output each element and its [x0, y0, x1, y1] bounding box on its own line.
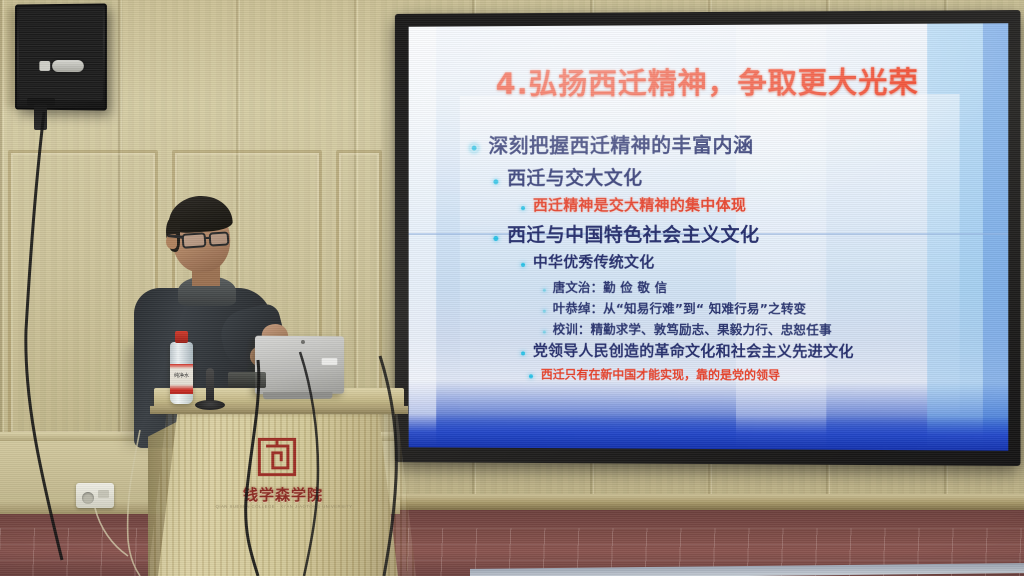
bullet-level3: 中华优秀传统文化 [521, 251, 990, 272]
bullet-level5-highlight: 西迁只有在新中国才能实现，靠的是党的领导 [529, 365, 990, 384]
presenter-laptop[interactable] [255, 336, 344, 395]
speaker-grille-icon [19, 8, 103, 101]
bullet-dot-icon [543, 310, 546, 313]
baseboard-right [396, 494, 1024, 510]
water-bottle: 纯净水 [170, 342, 193, 404]
bullet-dot-icon [493, 179, 498, 184]
bullet-level4: 唐文治：勤 俭 敬 信 [543, 277, 990, 297]
bullet-level2: 西迁与中国特色社会主义文化 [493, 220, 990, 247]
bullet-dot-icon [543, 289, 546, 292]
bottle-label-text: 纯净水 [170, 372, 193, 379]
projection-screen: 4.弘扬西迁精神，争取更大光荣 深刻把握西迁精神的丰富内涵 西迁与交大文化 西迁… [409, 23, 1009, 451]
lectern-org-name: 钱学森学院 [218, 484, 348, 505]
glasses-left-lens-icon [182, 232, 207, 249]
wall-power-outlet[interactable] [76, 483, 114, 508]
desk-equipment [228, 372, 266, 388]
bullet-text: 西迁与交大文化 [507, 163, 642, 190]
laptop-kickstand [263, 392, 332, 399]
bottle-label: 纯净水 [170, 364, 193, 394]
desk-microphone [206, 368, 214, 406]
lectern-wood-grain [148, 388, 416, 576]
bullet-level1: 深刻把握西迁精神的丰富内涵 [470, 128, 990, 158]
bullet-level4: 校训：精勤求学、敦笃励志、果毅力行、忠恕任事 [543, 319, 990, 339]
bullet-text: 叶恭绰：从“知易行难”到“ 知难行易”之转变 [553, 298, 807, 317]
slide-title: 4.弘扬西迁精神，争取更大光荣 [409, 68, 1009, 100]
glasses-right-lens-icon [209, 231, 230, 246]
bullet-dot-icon [521, 351, 525, 355]
bottle-cap [175, 331, 188, 343]
bullet-dot-icon [529, 374, 533, 378]
lectern: 钱学森学院 QIAN XUESEN COLLEGE · XI'AN JIAOTO… [148, 388, 416, 576]
bullet-dot-icon [543, 331, 546, 334]
bullet-dot-icon [521, 206, 525, 210]
bullet-level3-highlight: 西迁精神是交大精神的集中体现 [521, 194, 990, 215]
speaker-logo-icon [39, 61, 50, 71]
lectern-top-edge [150, 406, 408, 414]
bullet-text: 党领导人民创造的革命文化和社会主义先进文化 [533, 340, 854, 362]
wall-speaker [15, 3, 107, 110]
qian-xuesen-college-seal-icon [256, 436, 298, 478]
outlet-socket-flat-icon [98, 490, 109, 498]
slide-bullet-list: 深刻把握西迁精神的丰富内涵 西迁与交大文化 西迁精神是交大精神的集中体现 西迁与… [470, 128, 990, 384]
bullet-dot-icon [493, 236, 498, 241]
speaker-mount-arm [34, 104, 47, 130]
speaker-badge [52, 60, 84, 72]
bullet-text: 西迁只有在新中国才能实现，靠的是党的领导 [541, 365, 780, 383]
bullet-text: 深刻把握西迁精神的丰富内涵 [488, 129, 753, 159]
bullet-text: 唐文治：勤 俭 敬 信 [553, 277, 668, 296]
bullet-level3: 党领导人民创造的革命文化和社会主义先进文化 [521, 339, 990, 361]
lecture-hall-photo: 4.弘扬西迁精神，争取更大光荣 深刻把握西迁精神的丰富内涵 西迁与交大文化 西迁… [0, 0, 1024, 576]
presentation-slide: 4.弘扬西迁精神，争取更大光荣 深刻把握西迁精神的丰富内涵 西迁与交大文化 西迁… [409, 23, 1009, 451]
bullet-text: 西迁精神是交大精神的集中体现 [533, 194, 746, 215]
slide-footer-band [409, 414, 1009, 451]
bullet-level2: 西迁与交大文化 [493, 162, 990, 190]
bullet-level4: 叶恭绰：从“知易行难”到“ 知难行易”之转变 [543, 298, 990, 318]
bullet-dot-icon [470, 144, 479, 153]
bullet-dot-icon [521, 263, 525, 267]
outlet-socket-round-icon [82, 492, 94, 504]
projection-screen-bezel: 4.弘扬西迁精神，争取更大光荣 深刻把握西迁精神的丰富内涵 西迁与交大文化 西迁… [395, 10, 1021, 466]
laptop-port [322, 358, 338, 365]
microphone-base [195, 400, 225, 410]
laptop-camera-icon [301, 340, 305, 344]
glasses-bridge-icon [205, 237, 211, 239]
bullet-text: 西迁与中国特色社会主义文化 [507, 220, 759, 247]
bullet-text: 校训：精勤求学、敦笃励志、果毅力行、忠恕任事 [553, 319, 832, 339]
lectern-org-subtitle: QIAN XUESEN COLLEGE · XI'AN JIAOTONG UNI… [210, 504, 358, 509]
bullet-text: 中华优秀传统文化 [533, 251, 655, 272]
